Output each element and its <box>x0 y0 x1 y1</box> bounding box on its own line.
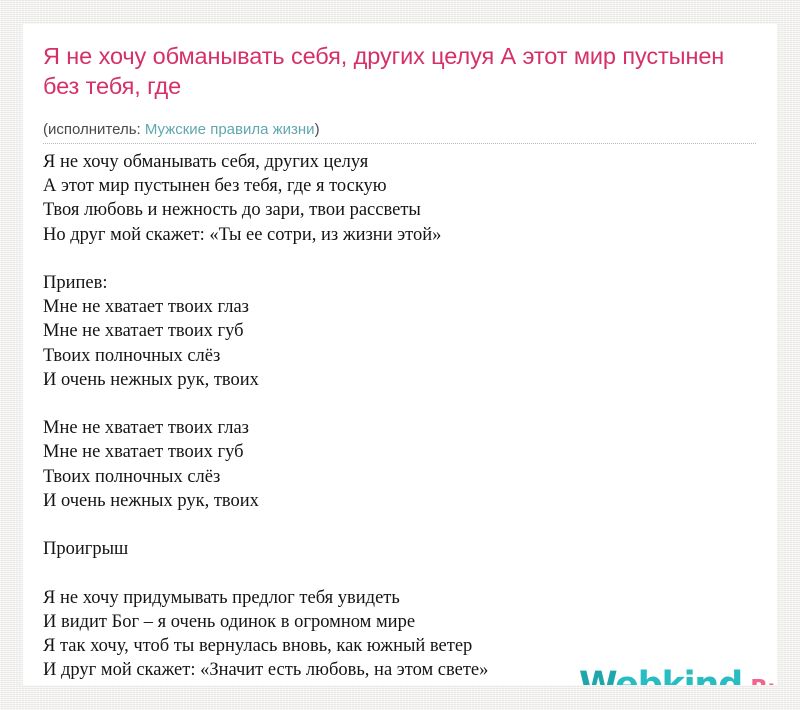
artist-line: (исполнитель: Мужские правила жизни) <box>43 121 320 139</box>
artist-link[interactable]: Мужские правила жизни <box>145 121 315 138</box>
artist-paren-close: ) <box>315 121 320 138</box>
artist-label: (исполнитель: <box>43 121 145 138</box>
lyrics-text: Я не хочу обманывать себя, других целуя … <box>43 150 753 682</box>
page-title: Я не хочу обманывать себя, других целуя … <box>43 41 743 101</box>
title-divider <box>43 143 756 144</box>
lyrics-content-card: Я не хочу обманывать себя, других целуя … <box>23 24 777 685</box>
page-wrapper: Я не хочу обманывать себя, других целуя … <box>0 0 800 710</box>
